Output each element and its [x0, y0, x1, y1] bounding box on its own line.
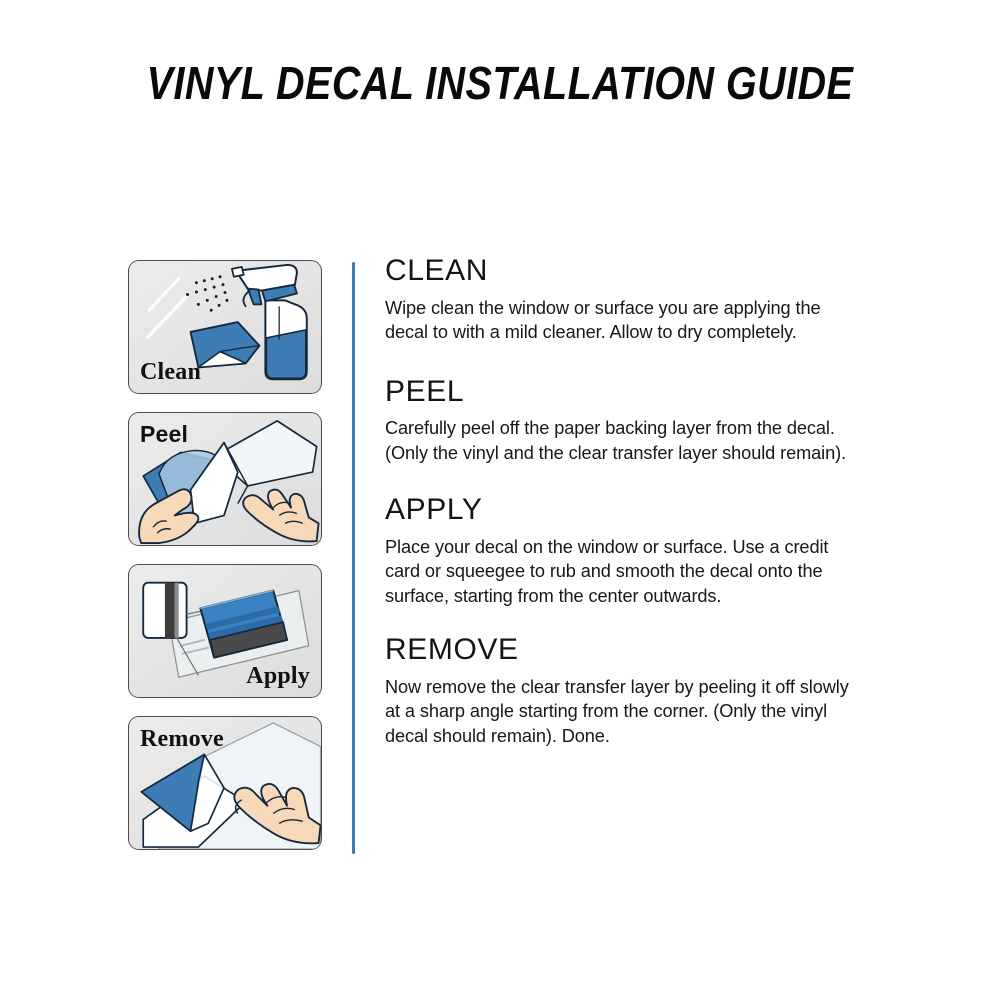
step-apply: APPLY Place your decal on the window or …	[385, 494, 925, 608]
panel-label-peel: Peel	[140, 423, 188, 446]
panel-label-remove: Remove	[140, 727, 224, 751]
steps-column: CLEAN Wipe clean the window or surface y…	[385, 255, 925, 748]
step-description-clean: Wipe clean the window or surface you are…	[385, 296, 925, 345]
step-title-apply: APPLY	[385, 494, 925, 526]
step-clean: CLEAN Wipe clean the window or surface y…	[385, 255, 925, 345]
panel-label-clean: Clean	[140, 360, 201, 384]
step-description-peel: Carefully peel off the paper backing lay…	[385, 416, 925, 465]
page-title: VINYL DECAL INSTALLATION GUIDE	[70, 56, 930, 110]
step-title-peel: PEEL	[385, 376, 925, 408]
guide-body: Clean	[0, 255, 1000, 855]
step-description-apply: Place your decal on the window or surfac…	[385, 535, 925, 609]
panel-label-apply: Apply	[246, 664, 310, 688]
step-peel: PEEL Carefully peel off the paper backin…	[385, 376, 925, 466]
panel-remove: Remove	[128, 716, 322, 850]
illustration-panel-column: Clean	[128, 260, 324, 868]
step-remove: REMOVE Now remove the clear transfer lay…	[385, 634, 925, 748]
panel-apply: Apply	[128, 564, 322, 698]
step-title-remove: REMOVE	[385, 634, 925, 666]
step-title-clean: CLEAN	[385, 255, 925, 287]
panel-clean: Clean	[128, 260, 322, 394]
vertical-divider	[352, 262, 355, 854]
panel-peel: Peel	[128, 412, 322, 546]
step-description-remove: Now remove the clear transfer layer by p…	[385, 675, 925, 749]
